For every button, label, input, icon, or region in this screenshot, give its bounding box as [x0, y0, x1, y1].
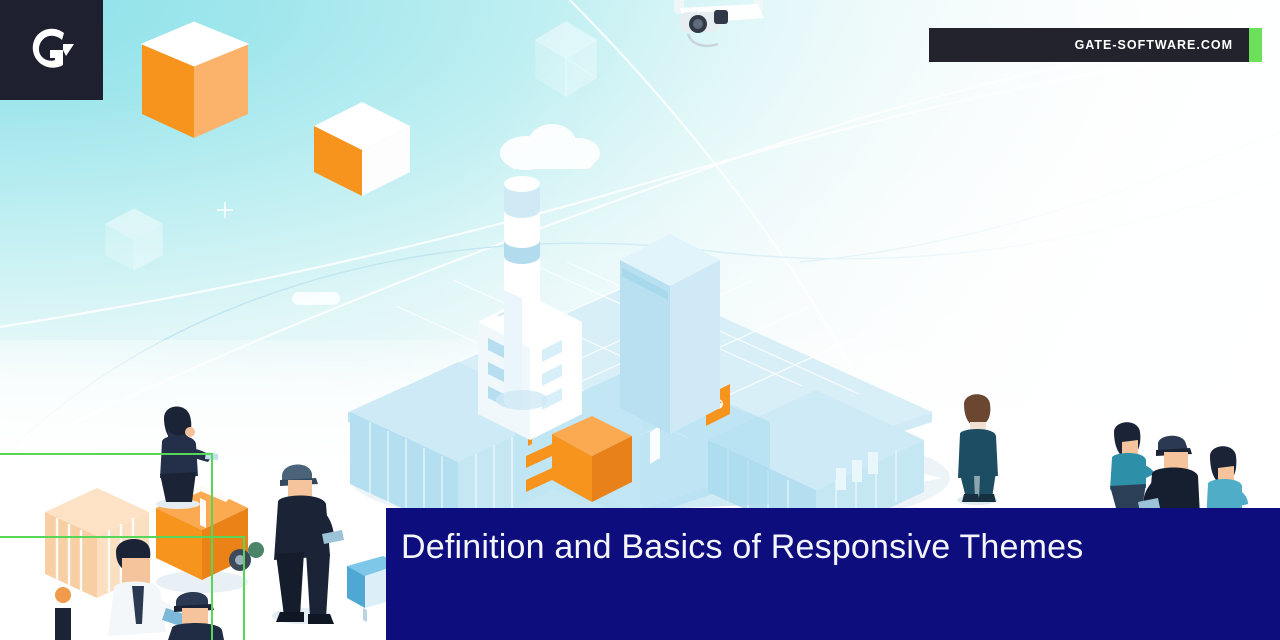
- badge-accent-bar: [1249, 28, 1262, 62]
- glass-tower: [620, 234, 720, 434]
- hero-banner: GATE-SOFTWARE.COM Definition and Basics …: [0, 0, 1280, 640]
- site-url-label: GATE-SOFTWARE.COM: [1075, 38, 1249, 52]
- letter-g-logo-icon: [26, 24, 78, 76]
- person-suit-back: [946, 390, 1008, 506]
- isometric-city-illustration: [330, 150, 950, 520]
- title-banner: Definition and Basics of Responsive Them…: [386, 508, 1280, 640]
- brand-logo[interactable]: [0, 0, 103, 100]
- person-officer-tablet: [260, 450, 346, 640]
- floating-box-orange-tall: [136, 18, 254, 142]
- floating-cube-ghost: [103, 206, 165, 274]
- guide-rect-lower: [0, 536, 245, 640]
- page-title: Definition and Basics of Responsive Them…: [401, 528, 1083, 567]
- wireframe-cube-icon: [532, 18, 600, 100]
- drone-icon: [640, 0, 790, 62]
- site-url-badge[interactable]: GATE-SOFTWARE.COM: [929, 28, 1249, 62]
- panel-gauge-icon: [650, 426, 660, 464]
- plus-marker-icon: [215, 200, 235, 220]
